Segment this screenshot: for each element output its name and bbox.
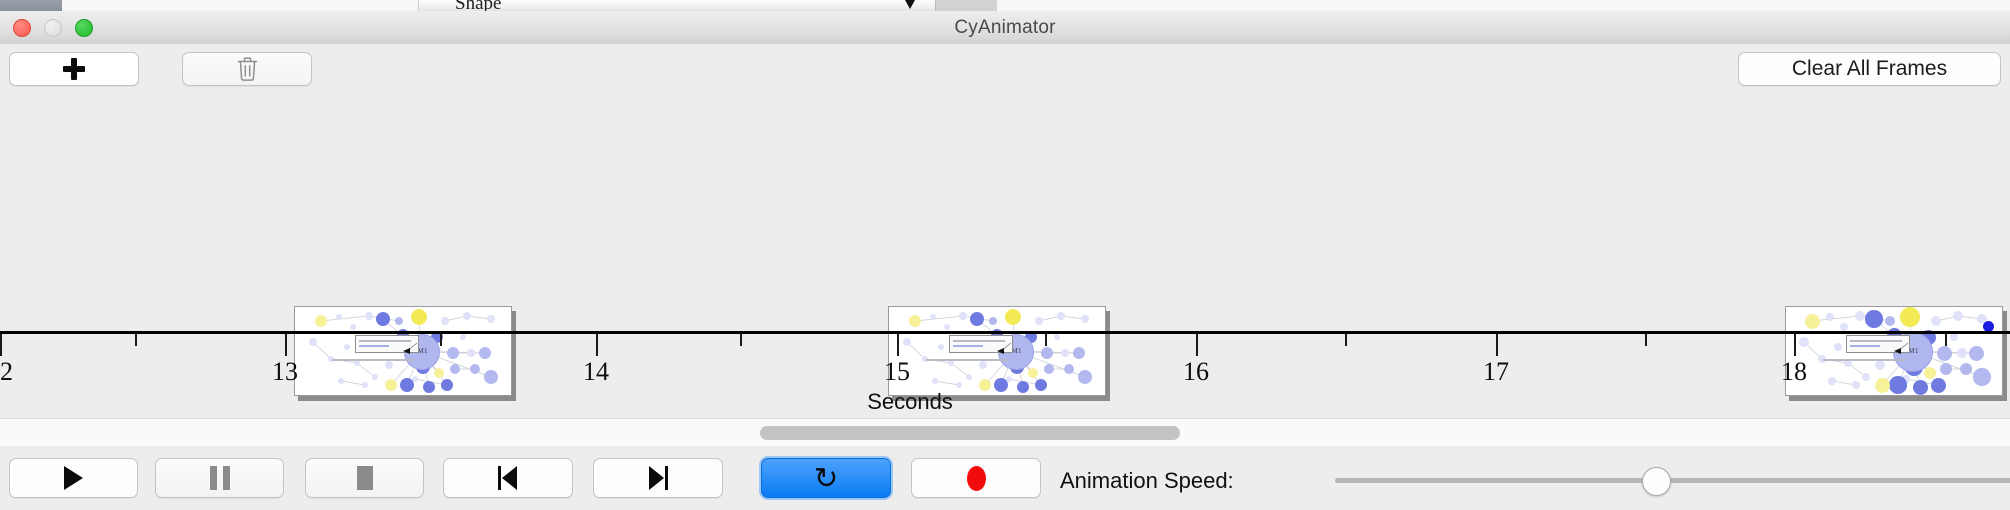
timeline-scrollbar[interactable] <box>0 418 2010 448</box>
play-button[interactable] <box>9 458 138 498</box>
axis-tick-major <box>1196 334 1198 356</box>
tooltip-leader <box>295 307 511 395</box>
cyanimator-window: Shape CyAnimator Clear All Frames MCM1MC <box>0 0 2010 510</box>
trash-icon <box>236 56 259 82</box>
background-window-titlebar <box>0 0 62 11</box>
network-caption <box>926 359 1008 361</box>
axis-tick-minor <box>1645 334 1647 346</box>
timeline-panel[interactable]: MCM1MCM1MCM1 12131415161718 Seconds <box>0 93 2010 418</box>
stop-icon <box>357 466 373 490</box>
title-bar: CyAnimator <box>0 11 2010 45</box>
axis-tick-minor <box>1345 334 1347 346</box>
frame-thumbnail[interactable]: MCM1 <box>294 306 516 401</box>
background-window-label: Shape <box>455 0 501 11</box>
axis-tick-major <box>285 334 287 356</box>
axis-tick-label: 13 <box>272 357 298 387</box>
axis-tick-minor <box>740 334 742 346</box>
clear-all-frames-button[interactable]: Clear All Frames <box>1738 52 2001 86</box>
axis-tick-label: 14 <box>583 357 609 387</box>
axis-tick-major <box>0 334 2 356</box>
axis-tick-major <box>1794 334 1796 356</box>
axis-tick-label: 12 <box>0 357 13 387</box>
plus-icon <box>63 58 85 80</box>
background-notch-icon <box>905 0 915 9</box>
network-caption <box>1823 359 1905 361</box>
background-seg <box>298 0 419 11</box>
frame-thumbnail[interactable]: MCM1 <box>1785 306 2007 401</box>
axis-tick-label: 18 <box>1781 357 1807 387</box>
axis-title-row: Seconds <box>0 389 2010 415</box>
frame-thumbnail[interactable]: MCM1 <box>888 306 1110 401</box>
axis-tick-minor <box>1045 334 1047 346</box>
background-seg <box>935 0 999 11</box>
skip-to-start-button[interactable] <box>443 458 573 498</box>
background-seg <box>1877 0 2010 11</box>
background-seg <box>997 0 1818 11</box>
delete-frame-button[interactable] <box>182 52 312 86</box>
animation-speed-slider[interactable] <box>1335 478 2010 483</box>
pause-icon <box>210 466 230 490</box>
animation-speed-label: Animation Speed: <box>1060 468 1234 494</box>
axis-tick-minor <box>440 334 442 346</box>
tooltip-leader <box>1786 307 2002 395</box>
record-button[interactable] <box>911 458 1041 498</box>
axis-tick-minor <box>1945 334 1947 346</box>
stop-button[interactable] <box>305 458 424 498</box>
axis-tick-label: 15 <box>884 357 910 387</box>
axis-tick-major <box>897 334 899 356</box>
background-seg <box>240 0 299 11</box>
background-seg <box>62 0 183 11</box>
animation-speed-slider-thumb[interactable] <box>1642 467 1671 496</box>
add-frame-button[interactable] <box>9 52 139 86</box>
play-icon <box>64 466 83 490</box>
background-window-strip: Shape <box>0 0 2010 11</box>
loop-button[interactable]: ↻ <box>761 458 891 498</box>
loop-icon: ↻ <box>814 464 838 493</box>
window-title: CyAnimator <box>0 11 2010 44</box>
skip-next-icon <box>648 466 668 490</box>
network-caption <box>332 359 414 361</box>
axis-tick-minor <box>135 334 137 346</box>
record-icon <box>967 466 986 491</box>
axis-tick-major <box>596 334 598 356</box>
axis-tick-major <box>1496 334 1498 356</box>
frame-image: MCM1 <box>294 306 512 396</box>
toolbar: Clear All Frames <box>0 44 2010 94</box>
axis-title: Seconds <box>867 389 953 414</box>
background-seg <box>182 0 241 11</box>
frame-image: MCM1 <box>1785 306 2003 396</box>
skip-to-end-button[interactable] <box>593 458 723 498</box>
tooltip-leader <box>889 307 1105 395</box>
scrollbar-thumb[interactable] <box>760 426 1180 440</box>
skip-previous-icon <box>498 466 518 490</box>
timeline-axis <box>0 331 2010 334</box>
background-seg <box>1817 0 1878 11</box>
axis-tick-label: 16 <box>1183 357 1209 387</box>
frame-image: MCM1 <box>888 306 1106 396</box>
clear-all-frames-label: Clear All Frames <box>1792 57 1947 81</box>
pause-button[interactable] <box>155 458 284 498</box>
axis-tick-label: 17 <box>1483 357 1509 387</box>
player-bar: ↻ Animation Speed: <box>0 446 2010 510</box>
